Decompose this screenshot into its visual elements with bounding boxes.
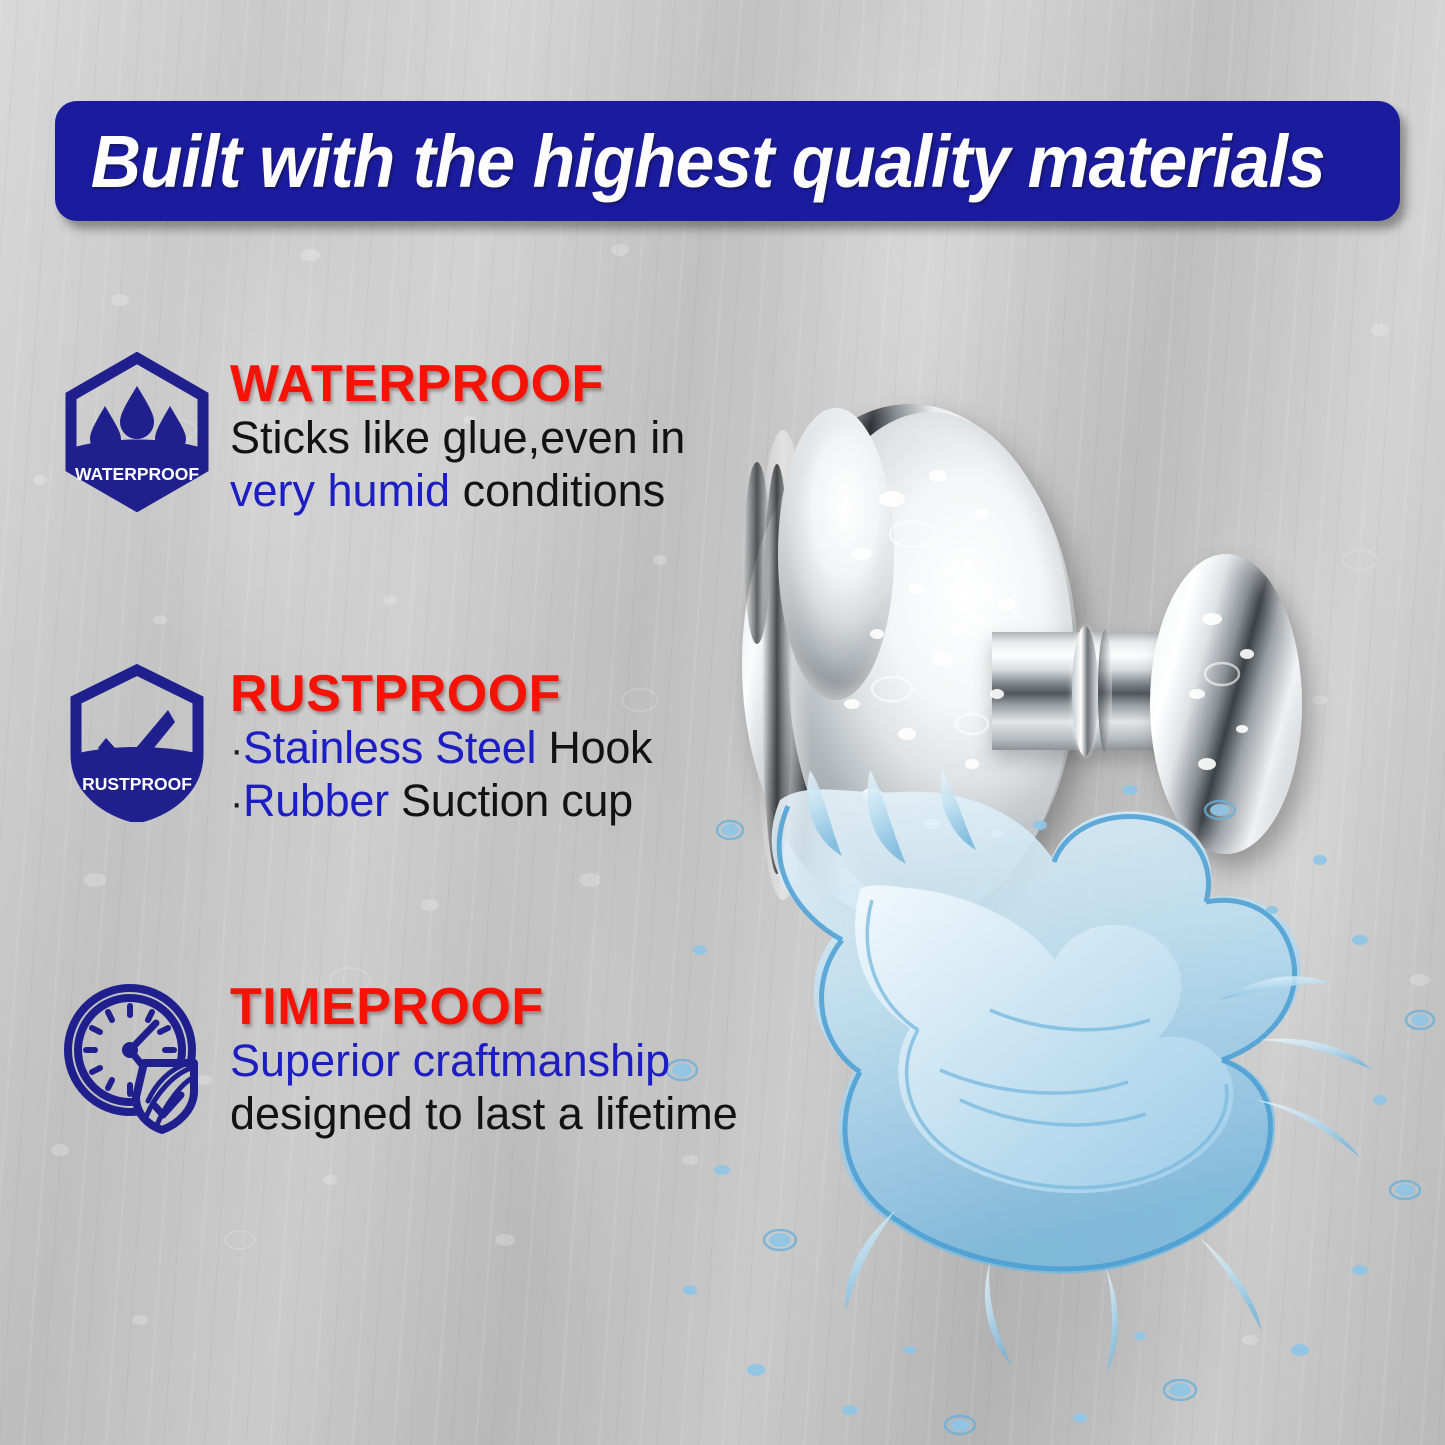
infographic-canvas: Built with the highest quality materials (0, 0, 1445, 1445)
text-segment-accent: very humid (230, 465, 450, 516)
bullet-marker: · (230, 728, 243, 772)
feature-timeproof-body: TIMEPROOF Superior craftmanship designed… (230, 975, 738, 1140)
bullet-marker: · (230, 781, 243, 825)
rustproof-shield-check-badge: RUSTPROOF (62, 662, 212, 822)
feature-timeproof-line-2: designed to last a lifetime (230, 1087, 738, 1140)
feature-waterproof-line-2: very humid conditions (230, 464, 685, 517)
text-segment: Suction cup (389, 775, 633, 826)
feature-waterproof: WATERPROOF WATERPROOF Sticks like glue,e… (62, 352, 685, 517)
feature-rustproof-title: RUSTPROOF (230, 668, 652, 721)
feature-waterproof-title: WATERPROOF (230, 358, 685, 411)
waterproof-hexagon-badge: WATERPROOF (62, 352, 212, 512)
feature-timeproof: TIMEPROOF Superior craftmanship designed… (62, 975, 738, 1140)
rustproof-badge-label: RUSTPROOF (82, 774, 192, 794)
water-splash (660, 770, 1445, 1445)
feature-rustproof-body: RUSTPROOF ·Stainless Steel Hook ·Rubber … (230, 662, 652, 827)
clock-center-pin (122, 1042, 138, 1058)
text-segment: Hook (536, 722, 652, 773)
waterproof-badge-label: WATERPROOF (75, 464, 199, 484)
headline-banner: Built with the highest quality materials (55, 101, 1400, 221)
feature-rustproof: RUSTPROOF RUSTPROOF ·Stainless Steel Hoo… (62, 662, 652, 827)
feature-timeproof-title: TIMEPROOF (230, 981, 738, 1034)
timeproof-clock-shield-icon (62, 975, 212, 1135)
text-segment: conditions (450, 465, 665, 516)
text-segment: Sticks like glue,even in (230, 412, 685, 463)
text-segment-accent: Superior craftmanship (230, 1035, 670, 1086)
text-segment-accent: Rubber (243, 775, 389, 826)
headline-text: Built with the highest quality materials (55, 119, 1325, 204)
feature-timeproof-line-1: Superior craftmanship (230, 1034, 738, 1087)
water-splash-art (660, 770, 1445, 1445)
feature-rustproof-line-2: ·Rubber Suction cup (230, 774, 652, 827)
feature-waterproof-body: WATERPROOF Sticks like glue,even in very… (230, 352, 685, 517)
feature-waterproof-line-1: Sticks like glue,even in (230, 411, 685, 464)
feature-rustproof-line-1: ·Stainless Steel Hook (230, 721, 652, 774)
text-segment-accent: Stainless Steel (243, 722, 536, 773)
text-segment: designed to last a lifetime (230, 1088, 738, 1139)
